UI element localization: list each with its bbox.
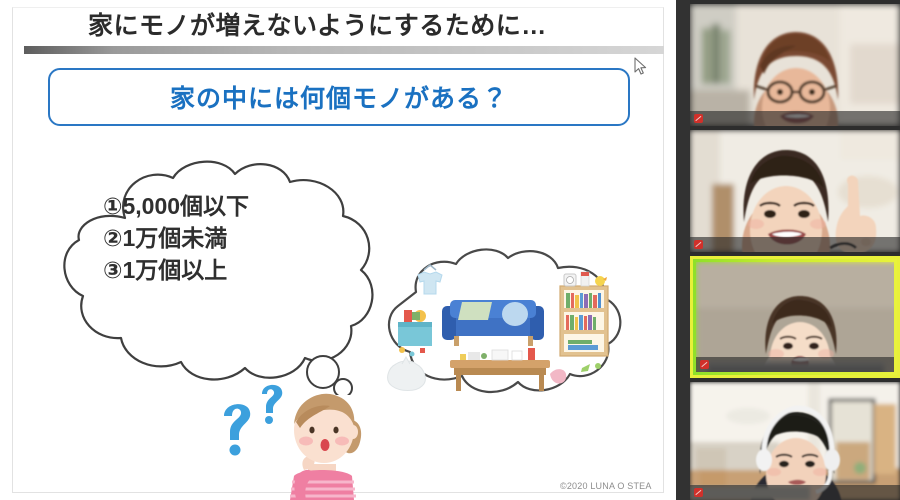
toy-box-icon <box>398 310 432 357</box>
room-illustration <box>372 248 642 408</box>
sofa-icon <box>442 300 544 346</box>
option-3: ③1万個以上 <box>103 254 333 286</box>
options-thought-bubble: ①5,000個以下 ②1万個未満 ③1万個以上 <box>55 160 385 395</box>
video-tile-2-feed <box>690 130 900 252</box>
option-1: ①5,000個以下 <box>103 190 333 222</box>
question-mark-icon <box>224 404 250 455</box>
participant-1-video <box>690 4 900 126</box>
title-divider <box>24 46 664 54</box>
girl-character <box>290 394 361 500</box>
room-contents <box>372 248 642 408</box>
question-box-text: 家の中には何個モノがある？ <box>170 79 508 115</box>
video-tile-1[interactable] <box>690 4 900 126</box>
mute-icon <box>694 488 703 497</box>
video-tile-2[interactable] <box>690 130 900 252</box>
copyright-text: ©2020 LUNA O STEA <box>560 481 652 491</box>
video-tile-1-namebar <box>690 111 900 126</box>
video-tile-3-namebar <box>696 357 894 372</box>
option-2: ②1万個未満 <box>103 222 333 254</box>
hanging-shirt-icon <box>418 265 442 294</box>
panel-gutter <box>676 0 690 500</box>
coffee-table-icon <box>450 348 550 391</box>
participant-2-video <box>690 130 900 252</box>
trash-bag-icon <box>388 357 426 391</box>
participant-3-video <box>696 262 894 372</box>
mute-icon <box>700 360 709 369</box>
slide-title: 家にモノが増えないようにするために… <box>88 9 608 43</box>
clutter-icons <box>550 363 601 384</box>
video-tile-4-feed <box>690 382 900 500</box>
video-participants-panel[interactable] <box>690 0 900 500</box>
video-tile-2-namebar <box>690 237 900 252</box>
question-box: 家の中には何個モノがある？ <box>48 68 630 126</box>
question-mark-icon-small <box>262 385 282 424</box>
options-list: ①5,000個以下 ②1万個未満 ③1万個以上 <box>103 190 333 286</box>
mute-icon <box>694 114 703 123</box>
presentation-slide: 家にモノが増えないようにするために… 家の中には何個モノがある？ ①5,000個… <box>0 0 676 500</box>
video-tile-4-namebar <box>690 485 900 500</box>
video-tile-3-feed <box>696 262 894 372</box>
screen-share-view: 家にモノが増えないようにするために… 家の中には何個モノがある？ ①5,000個… <box>0 0 900 500</box>
video-tile-1-feed <box>690 4 900 126</box>
video-tile-3[interactable] <box>690 256 900 378</box>
participant-4-video <box>690 382 900 500</box>
thinking-girl-illustration <box>212 372 382 500</box>
video-tile-4[interactable] <box>690 382 900 500</box>
bookshelf-icon <box>560 272 608 356</box>
mute-icon <box>694 240 703 249</box>
